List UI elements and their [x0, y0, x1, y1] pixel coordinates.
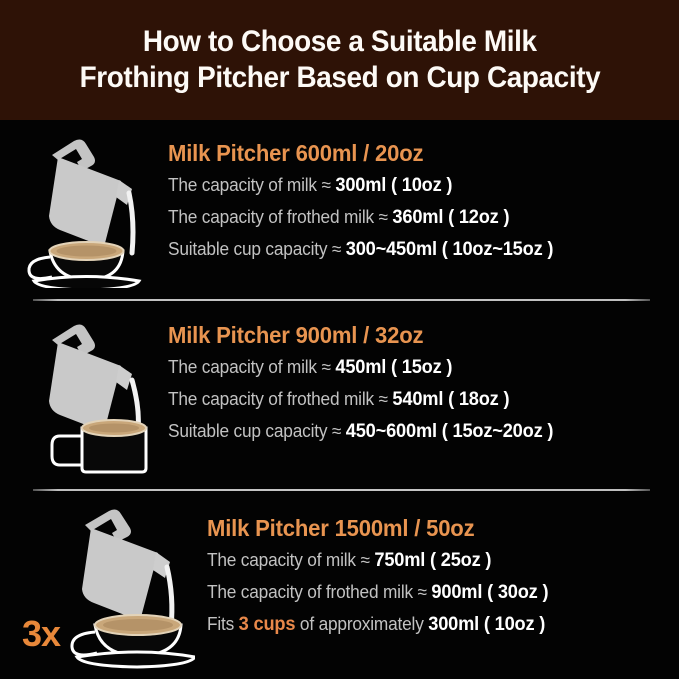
spec-accent-cups: 3 cups [239, 614, 296, 635]
spec-row-frothed-capacity: The capacity of frothed milk ≈ 900ml ( 3… [207, 577, 548, 609]
pitcher-pouring-cup-icon [22, 133, 152, 288]
spec-label: The capacity of frothed milk ≈ [207, 582, 431, 602]
spec-row-milk-capacity: The capacity of milk ≈ 300ml ( 10oz ) [168, 170, 553, 202]
section-divider-2 [33, 489, 650, 491]
section-divider-1 [33, 299, 650, 301]
spec-value: 540ml ( 18oz ) [392, 389, 509, 410]
section-text-1500ml: Milk Pitcher 1500ml / 50oz The capacity … [207, 513, 563, 641]
spec-value: 900ml ( 30oz ) [431, 582, 548, 603]
spec-row-frothed-capacity: The capacity of frothed milk ≈ 360ml ( 1… [168, 202, 553, 234]
illustration-pitcher-cup-600ml [22, 133, 152, 288]
section-title-600ml: Milk Pitcher 600ml / 20oz [168, 138, 553, 168]
section-title-900ml: Milk Pitcher 900ml / 32oz [168, 320, 553, 350]
spec-row-milk-capacity: The capacity of milk ≈ 450ml ( 15oz ) [168, 352, 553, 384]
spec-label: Suitable cup capacity ≈ [168, 239, 346, 259]
spec-label: The capacity of frothed milk ≈ [168, 389, 392, 409]
spec-row-suitable-cup: Suitable cup capacity ≈ 450~600ml ( 15oz… [168, 416, 553, 448]
illustration-pitcher-mug-900ml [22, 318, 152, 480]
spec-label: The capacity of milk ≈ [207, 550, 374, 570]
spec-row-milk-capacity: The capacity of milk ≈ 750ml ( 25oz ) [207, 545, 548, 577]
illustration-pitcher-cup-1500ml [55, 505, 195, 670]
spec-value: 300ml ( 10oz ) [335, 175, 452, 196]
spec-value: 300~450ml ( 10oz~15oz ) [346, 239, 553, 260]
spec-label: The capacity of frothed milk ≈ [168, 207, 392, 227]
page-title-line-1: How to Choose a Suitable Milk [143, 24, 537, 60]
spec-row-frothed-capacity: The capacity of frothed milk ≈ 540ml ( 1… [168, 384, 553, 416]
infographic-page: How to Choose a Suitable Milk Frothing P… [0, 0, 679, 679]
spec-value: 360ml ( 12oz ) [392, 207, 509, 228]
page-title-line-2: Frothing Pitcher Based on Cup Capacity [79, 60, 600, 96]
pitcher-pouring-mug-icon [22, 318, 152, 480]
spec-label: The capacity of milk ≈ [168, 357, 335, 377]
spec-label-mid: of approximately [295, 614, 428, 634]
section-text-600ml: Milk Pitcher 600ml / 20oz The capacity o… [168, 138, 569, 266]
spec-value: 750ml ( 25oz ) [374, 550, 491, 571]
quantity-multiplier-badge: 3x [22, 614, 60, 654]
spec-label: Suitable cup capacity ≈ [168, 421, 346, 441]
spec-value: 450~600ml ( 15oz~20oz ) [346, 421, 553, 442]
header-banner: How to Choose a Suitable Milk Frothing P… [0, 0, 679, 120]
spec-label-pre: Fits [207, 614, 239, 634]
section-title-1500ml: Milk Pitcher 1500ml / 50oz [207, 513, 548, 543]
spec-label: The capacity of milk ≈ [168, 175, 335, 195]
spec-row-suitable-cup: Suitable cup capacity ≈ 300~450ml ( 10oz… [168, 234, 553, 266]
spec-row-fits-cups: Fits 3 cups of approximately 300ml ( 10o… [207, 609, 548, 641]
pitcher-pouring-cup-icon [55, 505, 195, 670]
section-text-900ml: Milk Pitcher 900ml / 32oz The capacity o… [168, 320, 569, 448]
spec-value: 450ml ( 15oz ) [335, 357, 452, 378]
spec-value: 300ml ( 10oz ) [428, 614, 545, 635]
